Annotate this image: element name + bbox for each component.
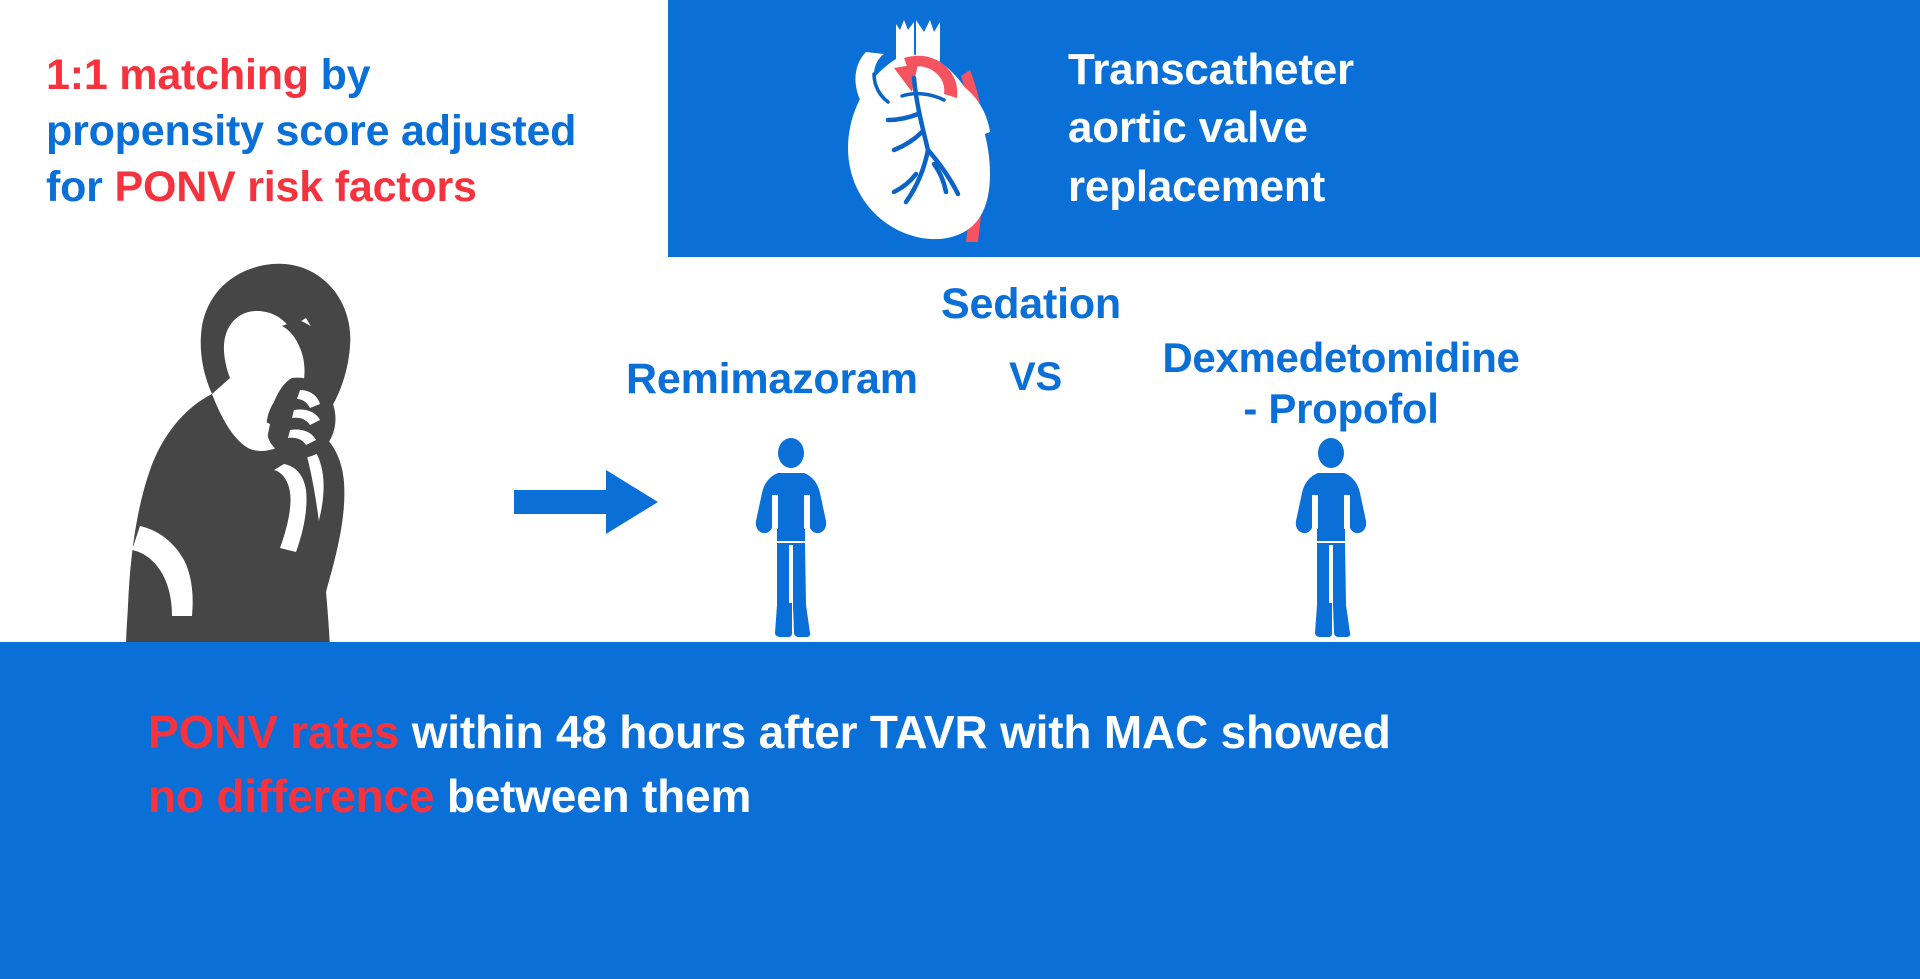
versus-label: VS — [1009, 355, 1062, 400]
procedure-title: Transcatheter aortic valve replacement — [1068, 41, 1354, 215]
procedure-title-line2: aortic valve — [1068, 103, 1308, 152]
drug-label-remimazoram: Remimazoram — [626, 355, 918, 404]
infographic-canvas: 1:1 matching by propensity score adjuste… — [0, 0, 1920, 979]
study-design-statement: 1:1 matching by propensity score adjuste… — [46, 48, 666, 216]
anatomical-heart-icon — [818, 14, 1018, 244]
drug-label-dexmedetomidine-propofol: Dexmedetomidine - Propofol — [1131, 332, 1551, 434]
procedure-title-line3: replacement — [1068, 162, 1325, 211]
conclusion-rest-2: between them — [434, 770, 751, 822]
standing-person-icon-right — [1288, 437, 1374, 637]
conclusion-text: PONV rates within 48 hours after TAVR wi… — [148, 700, 1708, 829]
drug-right-line2: - Propofol — [1243, 385, 1438, 432]
standing-person-icon-left — [748, 437, 834, 637]
procedure-title-line1: Transcatheter — [1068, 45, 1354, 94]
conclusion-emphasis-2: no difference — [148, 770, 434, 822]
intro-line3-prefix: for — [46, 163, 114, 211]
intro-line1-emphasis: 1:1 matching — [46, 51, 309, 99]
thinking-person-icon — [62, 258, 462, 648]
sedation-label: Sedation — [941, 280, 1121, 329]
conclusion-emphasis-1: PONV rates — [148, 706, 399, 758]
intro-line2: propensity score adjusted — [46, 107, 576, 155]
conclusion-rest-1: within 48 hours after TAVR with MAC show… — [399, 706, 1391, 758]
intro-line1-rest: by — [309, 51, 371, 99]
conclusion-banner: PONV rates within 48 hours after TAVR wi… — [0, 642, 1920, 979]
intro-line3-emphasis: PONV risk factors — [114, 163, 476, 211]
procedure-banner: Transcatheter aortic valve replacement — [668, 0, 1920, 257]
drug-right-line1: Dexmedetomidine — [1162, 334, 1519, 381]
right-arrow-icon — [514, 470, 658, 534]
